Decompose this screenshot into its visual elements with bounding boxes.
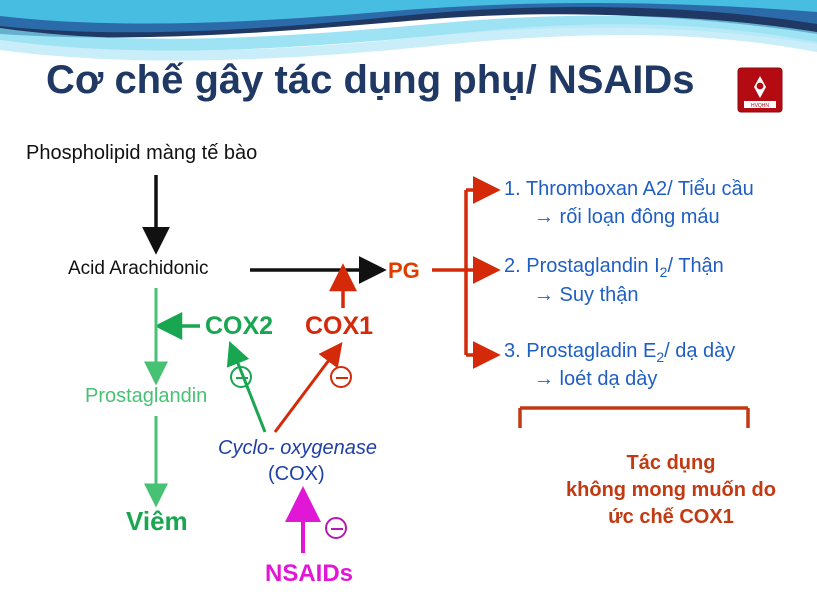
outcome-3-text-post: / dạ dày bbox=[664, 340, 735, 362]
caption-line-1: Tác dụng bbox=[556, 450, 786, 477]
outcome-3: 3. Prostagladin E2/ dạ dày bbox=[504, 340, 735, 365]
outcome-3-effect: → loét dạ dày bbox=[534, 368, 657, 391]
label-cox2: COX2 bbox=[205, 312, 273, 341]
caption-line-2: không mong muốn do bbox=[556, 477, 786, 504]
label-cox-abbrev: (COX) bbox=[268, 463, 325, 486]
label-viem: Viêm bbox=[126, 507, 188, 537]
label-pg: PG bbox=[388, 258, 420, 283]
outcome-2: 2. Prostaglandin I2/ Thận bbox=[504, 255, 724, 280]
label-acid-arachidonic: Acid Arachidonic bbox=[68, 258, 208, 280]
inhibition-icon-cox1 bbox=[330, 366, 352, 388]
label-cox1: COX1 bbox=[305, 312, 373, 341]
outcome-2-effect: → Suy thận bbox=[534, 284, 639, 307]
outcome-2-text-post: / Thận bbox=[667, 255, 723, 277]
outcome-2-number: 2. bbox=[504, 255, 521, 277]
inhibition-icon-cox2 bbox=[230, 366, 252, 388]
label-prostaglandin: Prostaglandin bbox=[85, 385, 207, 408]
outcome-1-text: Thromboxan A2/ Tiểu cầu bbox=[526, 178, 754, 200]
slide-canvas: Cơ chế gây tác dụng phụ/ NSAIDs HVQHN bbox=[0, 0, 817, 613]
summary-caption: Tác dụng không mong muốn do ức chế COX1 bbox=[556, 450, 786, 531]
outcome-3-subscript: 2 bbox=[656, 349, 664, 365]
label-phospholipid: Phospholipid màng tế bào bbox=[26, 142, 257, 165]
svg-text:HVQHN: HVQHN bbox=[751, 103, 769, 109]
outcome-2-text-pre: Prostaglandin I bbox=[526, 255, 659, 277]
label-cyclo-oxygenase: Cyclo- oxygenase bbox=[218, 437, 377, 460]
outcome-3-number: 3. bbox=[504, 340, 521, 362]
page-title: Cơ chế gây tác dụng phụ/ NSAIDs bbox=[46, 58, 695, 103]
outcome-1-effect: → rối loạn đông máu bbox=[534, 206, 720, 229]
caption-line-3: ức chế COX1 bbox=[556, 504, 786, 531]
inhibition-icon-nsaids bbox=[325, 517, 347, 539]
outcome-1-number: 1. bbox=[504, 178, 521, 200]
label-nsaids: NSAIDs bbox=[265, 560, 353, 588]
outcome-3-text-pre: Prostagladin E bbox=[526, 340, 656, 362]
outcome-1: 1. Thromboxan A2/ Tiểu cầu bbox=[504, 178, 754, 201]
university-emblem-icon: HVQHN bbox=[736, 66, 784, 114]
